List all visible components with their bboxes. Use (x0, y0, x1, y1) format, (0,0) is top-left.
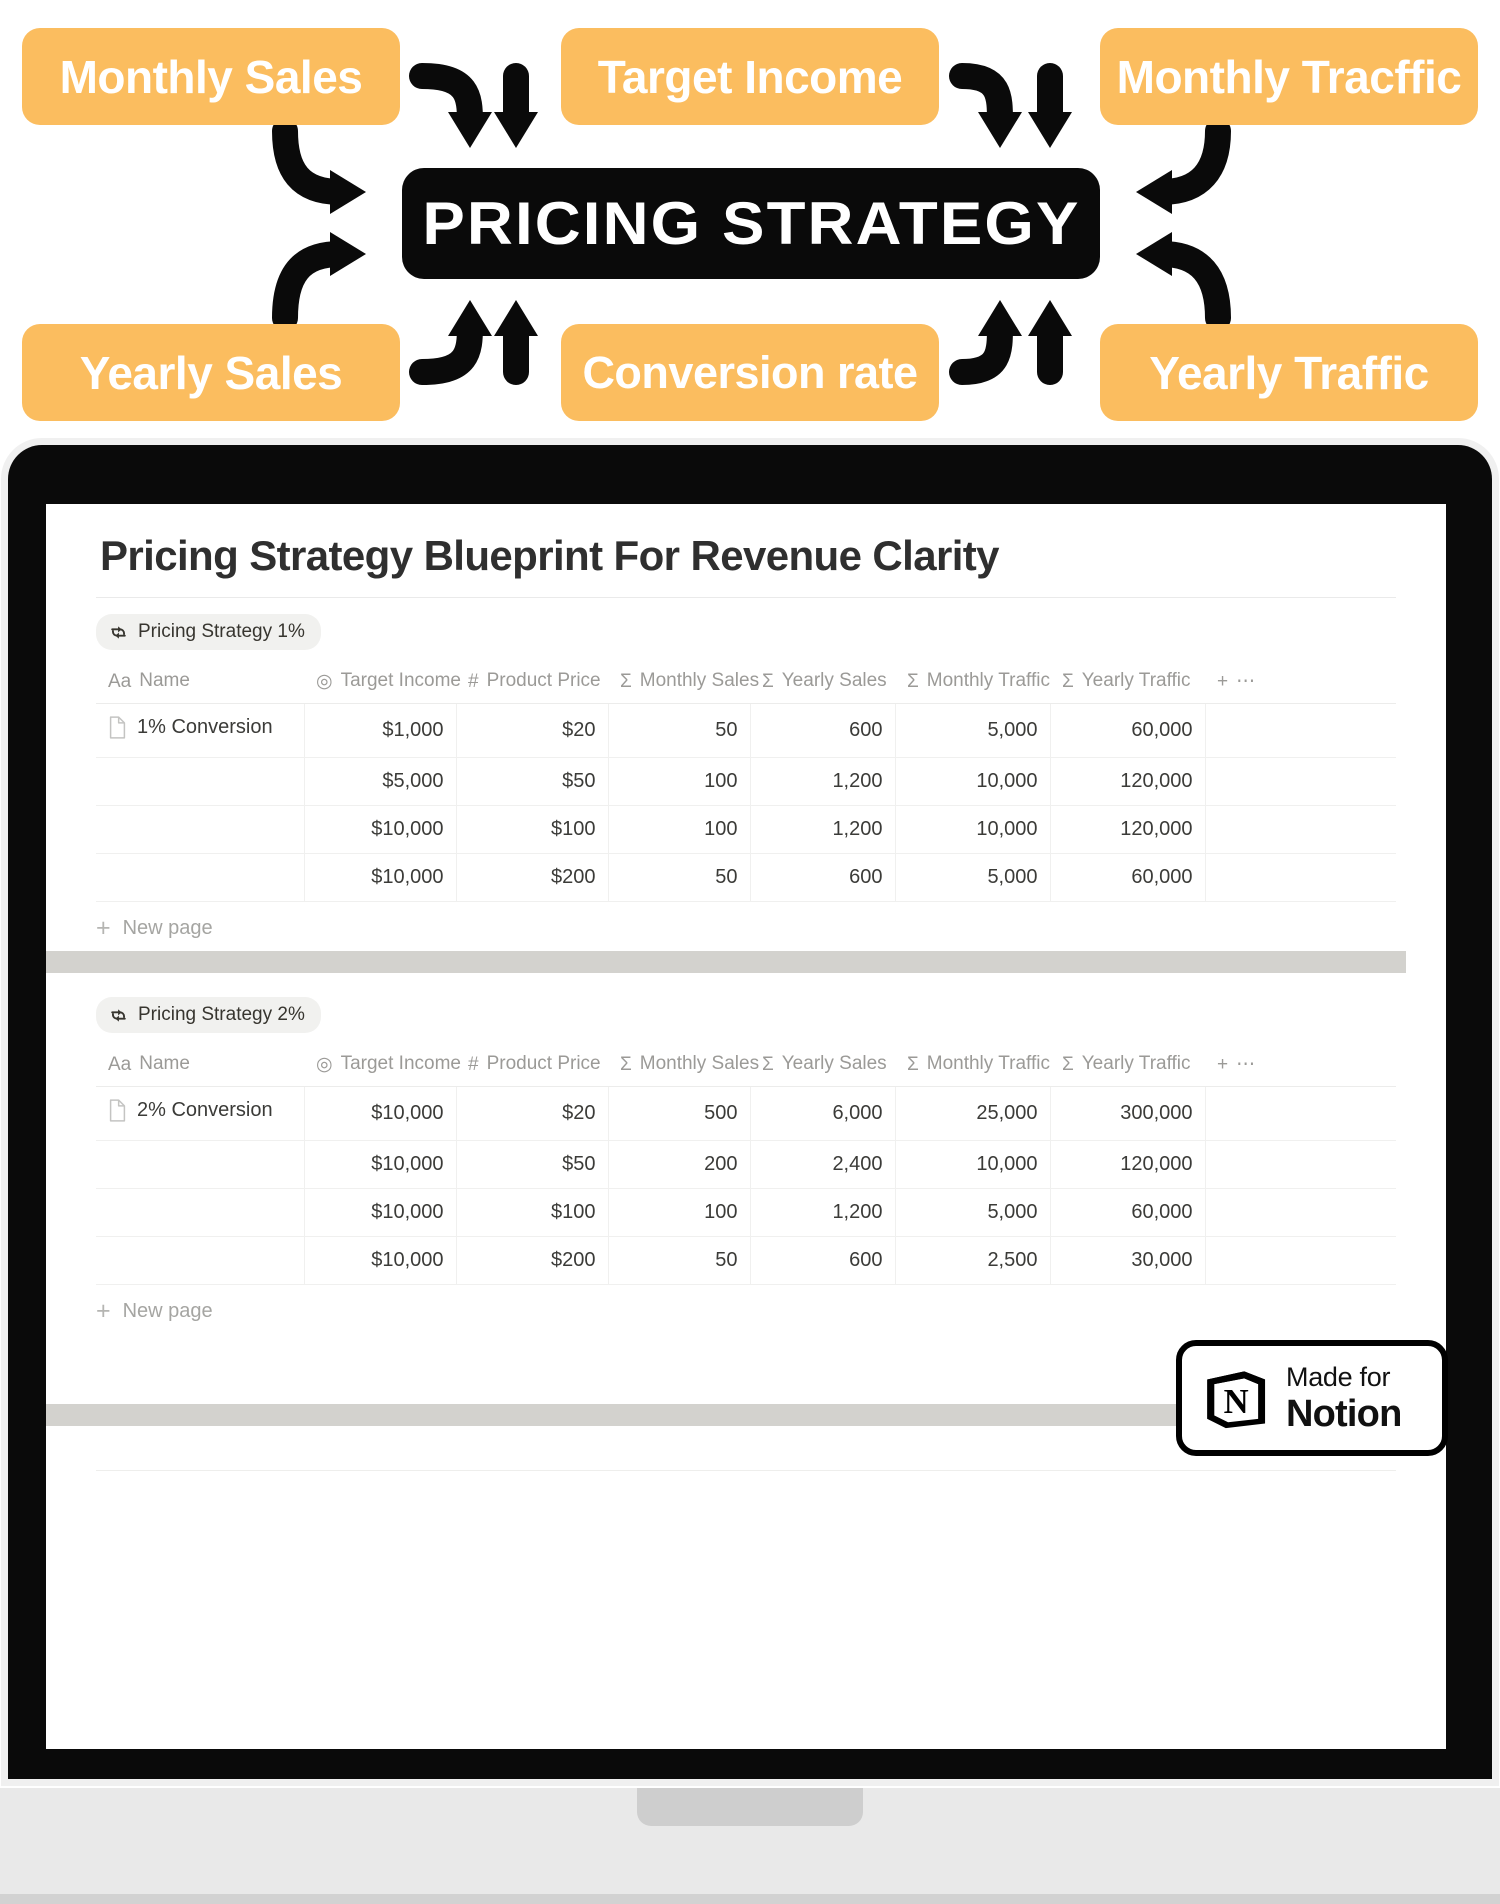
formula-icon: Σ (620, 672, 632, 691)
more-options-icon[interactable]: ⋯ (1236, 1055, 1255, 1074)
cell-name[interactable]: 1% Conversion (96, 703, 304, 757)
row-name-text: 1% Conversion (137, 716, 273, 739)
cell-target-income[interactable]: $10,000 (304, 1086, 456, 1140)
column-label: Product Price (487, 670, 601, 692)
cell-target-income[interactable]: $10,000 (304, 853, 456, 901)
pricing-strategy-diagram: Monthly Sales Target Income Monthly Trac… (0, 0, 1500, 440)
column-header-yearly-traffic[interactable]: ΣYearly Traffic (1050, 664, 1205, 703)
page-file-icon (108, 716, 127, 739)
cell-monthly-sales[interactable]: 100 (608, 1188, 750, 1236)
node-label: Conversion rate (582, 347, 917, 399)
cell-product-price[interactable]: $20 (456, 1086, 608, 1140)
cell-yearly-traffic[interactable]: 120,000 (1050, 805, 1205, 853)
column-label: Yearly Traffic (1082, 1053, 1191, 1075)
column-header-monthly-sales[interactable]: ΣMonthly Sales (608, 1047, 750, 1086)
column-label: Product Price (487, 1053, 601, 1075)
cell-monthly-sales[interactable]: 50 (608, 703, 750, 757)
cell-target-income[interactable]: $10,000 (304, 1236, 456, 1284)
cell-monthly-traffic[interactable]: 10,000 (895, 805, 1050, 853)
column-label: Name (139, 1053, 190, 1075)
plus-icon: + (96, 1299, 111, 1324)
cell-empty (1205, 853, 1396, 901)
cell-yearly-sales[interactable]: 600 (750, 1236, 895, 1284)
cell-yearly-traffic[interactable]: 60,000 (1050, 853, 1205, 901)
column-header-monthly-sales[interactable]: ΣMonthly Sales (608, 664, 750, 703)
cell-yearly-traffic[interactable]: 120,000 (1050, 757, 1205, 805)
table-header-row: AaName ◎Target Income #Product Price ΣMo… (96, 1047, 1396, 1086)
column-header-target-income[interactable]: ◎Target Income (304, 664, 456, 703)
table-row[interactable]: $10,000 $100 100 1,200 10,000 120,000 (96, 805, 1396, 853)
node-yearly-sales: Yearly Sales (22, 324, 400, 421)
cell-yearly-traffic[interactable]: 60,000 (1050, 1188, 1205, 1236)
database-title-pill-1[interactable]: Pricing Strategy 1% (96, 614, 321, 650)
database-block-2: Pricing Strategy 2% AaName ◎Target Incom… (46, 997, 1446, 1324)
new-page-button-2[interactable]: + New page (96, 1299, 213, 1324)
column-header-monthly-traffic[interactable]: ΣMonthly Traffic (895, 664, 1050, 703)
cell-name[interactable] (96, 757, 304, 805)
column-header-product-price[interactable]: #Product Price (456, 664, 608, 703)
table-row[interactable]: 1% Conversion $1,000 $20 50 600 5,000 60… (96, 703, 1396, 757)
cell-target-income[interactable]: $5,000 (304, 757, 456, 805)
node-label: Monthly Tracffic (1117, 50, 1462, 104)
cell-name[interactable]: 2% Conversion (96, 1086, 304, 1140)
formula-icon: Σ (907, 672, 919, 691)
add-column-icon[interactable]: + (1217, 672, 1228, 691)
column-header-yearly-traffic[interactable]: ΣYearly Traffic (1050, 1047, 1205, 1086)
laptop-screen: Pricing Strategy Blueprint For Revenue C… (46, 504, 1446, 1749)
cell-monthly-sales[interactable]: 500 (608, 1086, 750, 1140)
cell-monthly-traffic[interactable]: 2,500 (895, 1236, 1050, 1284)
pricing-table-2: AaName ◎Target Income #Product Price ΣMo… (96, 1047, 1396, 1285)
number-icon: # (468, 672, 479, 691)
cell-monthly-traffic[interactable]: 25,000 (895, 1086, 1050, 1140)
row-name-text: 2% Conversion (137, 1099, 273, 1122)
column-label: Monthly Sales (640, 1053, 759, 1075)
title-divider (96, 597, 1396, 598)
column-header-product-price[interactable]: #Product Price (456, 1047, 608, 1086)
add-column-icon[interactable]: + (1217, 1055, 1228, 1074)
node-target-income: Target Income (561, 28, 939, 125)
text-aa-icon: Aa (108, 1055, 131, 1074)
cell-name[interactable] (96, 805, 304, 853)
bottom-divider (96, 1470, 1396, 1471)
column-label: Name (139, 670, 190, 692)
column-header-actions[interactable]: +⋯ (1205, 1047, 1396, 1086)
plus-icon: + (96, 916, 111, 941)
formula-icon: Σ (762, 672, 774, 691)
laptop-mockup: Pricing Strategy Blueprint For Revenue C… (0, 432, 1500, 1500)
new-page-label: New page (123, 917, 213, 940)
table-row[interactable]: $10,000 $200 50 600 2,500 30,000 (96, 1236, 1396, 1284)
node-conversion-rate: Conversion rate (561, 324, 939, 421)
node-label: Yearly Traffic (1149, 346, 1428, 400)
more-options-icon[interactable]: ⋯ (1236, 672, 1255, 691)
table-row[interactable]: $10,000 $100 100 1,200 5,000 60,000 (96, 1188, 1396, 1236)
badge-line-1: Made for (1286, 1364, 1402, 1391)
cell-name[interactable] (96, 853, 304, 901)
database-title-pill-2[interactable]: Pricing Strategy 2% (96, 997, 321, 1033)
text-aa-icon: Aa (108, 672, 131, 691)
cell-empty (1205, 1236, 1396, 1284)
column-header-yearly-sales[interactable]: ΣYearly Sales (750, 1047, 895, 1086)
formula-icon: Σ (620, 1055, 632, 1074)
cell-empty (1205, 703, 1396, 757)
sync-icon (109, 623, 128, 642)
cell-yearly-traffic[interactable]: 30,000 (1050, 1236, 1205, 1284)
cell-yearly-sales[interactable]: 1,200 (750, 1188, 895, 1236)
cell-target-income[interactable]: $10,000 (304, 1188, 456, 1236)
cell-monthly-traffic[interactable]: 5,000 (895, 703, 1050, 757)
table-row[interactable]: $5,000 $50 100 1,200 10,000 120,000 (96, 757, 1396, 805)
cell-target-income[interactable]: $10,000 (304, 805, 456, 853)
node-label: Yearly Sales (80, 346, 343, 400)
cell-product-price[interactable]: $100 (456, 1188, 608, 1236)
node-monthly-traffic: Monthly Tracffic (1100, 28, 1478, 125)
column-header-target-income[interactable]: ◎Target Income (304, 1047, 456, 1086)
formula-icon: Σ (907, 1055, 919, 1074)
cell-yearly-traffic[interactable]: 120,000 (1050, 1140, 1205, 1188)
cell-monthly-sales[interactable]: 100 (608, 805, 750, 853)
table-row[interactable]: $10,000 $50 200 2,400 10,000 120,000 (96, 1140, 1396, 1188)
laptop-trackpad-notch (637, 1788, 863, 1826)
column-label: Monthly Sales (640, 670, 759, 692)
page-file-icon (108, 1099, 127, 1122)
formula-icon: Σ (1062, 1055, 1074, 1074)
formula-icon: Σ (762, 1055, 774, 1074)
cell-product-price[interactable]: $100 (456, 805, 608, 853)
notion-page: Pricing Strategy Blueprint For Revenue C… (46, 504, 1446, 1749)
cell-target-income[interactable]: $1,000 (304, 703, 456, 757)
cell-empty (1205, 1140, 1396, 1188)
column-label: Monthly Traffic (927, 670, 1050, 692)
column-label: Yearly Sales (782, 1053, 887, 1075)
made-for-notion-badge: N Made for Notion (1176, 1340, 1448, 1456)
cell-name[interactable] (96, 1236, 304, 1284)
cell-monthly-sales[interactable]: 50 (608, 1236, 750, 1284)
cell-name[interactable] (96, 1188, 304, 1236)
section-divider-band-1 (46, 951, 1406, 973)
cell-monthly-sales[interactable]: 200 (608, 1140, 750, 1188)
cell-monthly-sales[interactable]: 100 (608, 757, 750, 805)
target-icon: ◎ (316, 1055, 333, 1074)
cell-yearly-traffic[interactable]: 300,000 (1050, 1086, 1205, 1140)
cell-product-price[interactable]: $50 (456, 1140, 608, 1188)
cell-monthly-sales[interactable]: 50 (608, 853, 750, 901)
cell-product-price[interactable]: $200 (456, 1236, 608, 1284)
cell-yearly-sales[interactable]: 1,200 (750, 757, 895, 805)
cell-yearly-traffic[interactable]: 60,000 (1050, 703, 1205, 757)
target-icon: ◎ (316, 672, 333, 691)
column-label: Monthly Traffic (927, 1053, 1050, 1075)
column-header-name[interactable]: AaName (96, 1047, 304, 1086)
cell-monthly-traffic[interactable]: 5,000 (895, 1188, 1050, 1236)
database-block-1: Pricing Strategy 1% AaName ◎Target Incom… (46, 614, 1446, 941)
notion-logo-icon: N (1198, 1361, 1272, 1435)
node-pricing-strategy-center: PRICING STRATEGY (402, 168, 1100, 279)
database-title-label: Pricing Strategy 2% (138, 1004, 305, 1026)
new-page-label: New page (123, 1300, 213, 1323)
cell-product-price[interactable]: $200 (456, 853, 608, 901)
cell-target-income[interactable]: $10,000 (304, 1140, 456, 1188)
sync-icon (109, 1006, 128, 1025)
cell-monthly-traffic[interactable]: 10,000 (895, 757, 1050, 805)
cell-monthly-traffic[interactable]: 10,000 (895, 1140, 1050, 1188)
table-row[interactable]: $10,000 $200 50 600 5,000 60,000 (96, 853, 1396, 901)
cell-empty (1205, 1086, 1396, 1140)
cell-yearly-sales[interactable]: 600 (750, 703, 895, 757)
database-title-label: Pricing Strategy 1% (138, 621, 305, 643)
center-label: PRICING STRATEGY (422, 189, 1080, 258)
column-header-monthly-traffic[interactable]: ΣMonthly Traffic (895, 1047, 1050, 1086)
node-yearly-traffic: Yearly Traffic (1100, 324, 1478, 421)
column-header-yearly-sales[interactable]: ΣYearly Sales (750, 664, 895, 703)
new-page-button-1[interactable]: + New page (96, 916, 213, 941)
column-label: Yearly Sales (782, 670, 887, 692)
cell-yearly-sales[interactable]: 6,000 (750, 1086, 895, 1140)
table-row[interactable]: 2% Conversion $10,000 $20 500 6,000 25,0… (96, 1086, 1396, 1140)
cell-empty (1205, 757, 1396, 805)
badge-line-2: Notion (1286, 1395, 1402, 1433)
cell-product-price[interactable]: $50 (456, 757, 608, 805)
cell-name[interactable] (96, 1140, 304, 1188)
svg-text:N: N (1224, 1382, 1249, 1421)
page-title: Pricing Strategy Blueprint For Revenue C… (100, 532, 999, 580)
cell-monthly-traffic[interactable]: 5,000 (895, 853, 1050, 901)
cell-yearly-sales[interactable]: 600 (750, 853, 895, 901)
column-header-name[interactable]: AaName (96, 664, 304, 703)
node-monthly-sales: Monthly Sales (22, 28, 400, 125)
number-icon: # (468, 1055, 479, 1074)
cell-product-price[interactable]: $20 (456, 703, 608, 757)
laptop-base-edge (0, 1894, 1500, 1904)
column-header-actions[interactable]: +⋯ (1205, 664, 1396, 703)
node-label: Monthly Sales (60, 50, 363, 104)
column-label: Yearly Traffic (1082, 670, 1191, 692)
cell-empty (1205, 805, 1396, 853)
formula-icon: Σ (1062, 672, 1074, 691)
cell-empty (1205, 1188, 1396, 1236)
cell-yearly-sales[interactable]: 1,200 (750, 805, 895, 853)
node-label: Target Income (598, 50, 903, 104)
pricing-table-1: AaName ◎Target Income #Product Price ΣMo… (96, 664, 1396, 902)
cell-yearly-sales[interactable]: 2,400 (750, 1140, 895, 1188)
column-label: Target Income (341, 1053, 461, 1075)
table-header-row: AaName ◎Target Income #Product Price ΣMo… (96, 664, 1396, 703)
column-label: Target Income (341, 670, 461, 692)
